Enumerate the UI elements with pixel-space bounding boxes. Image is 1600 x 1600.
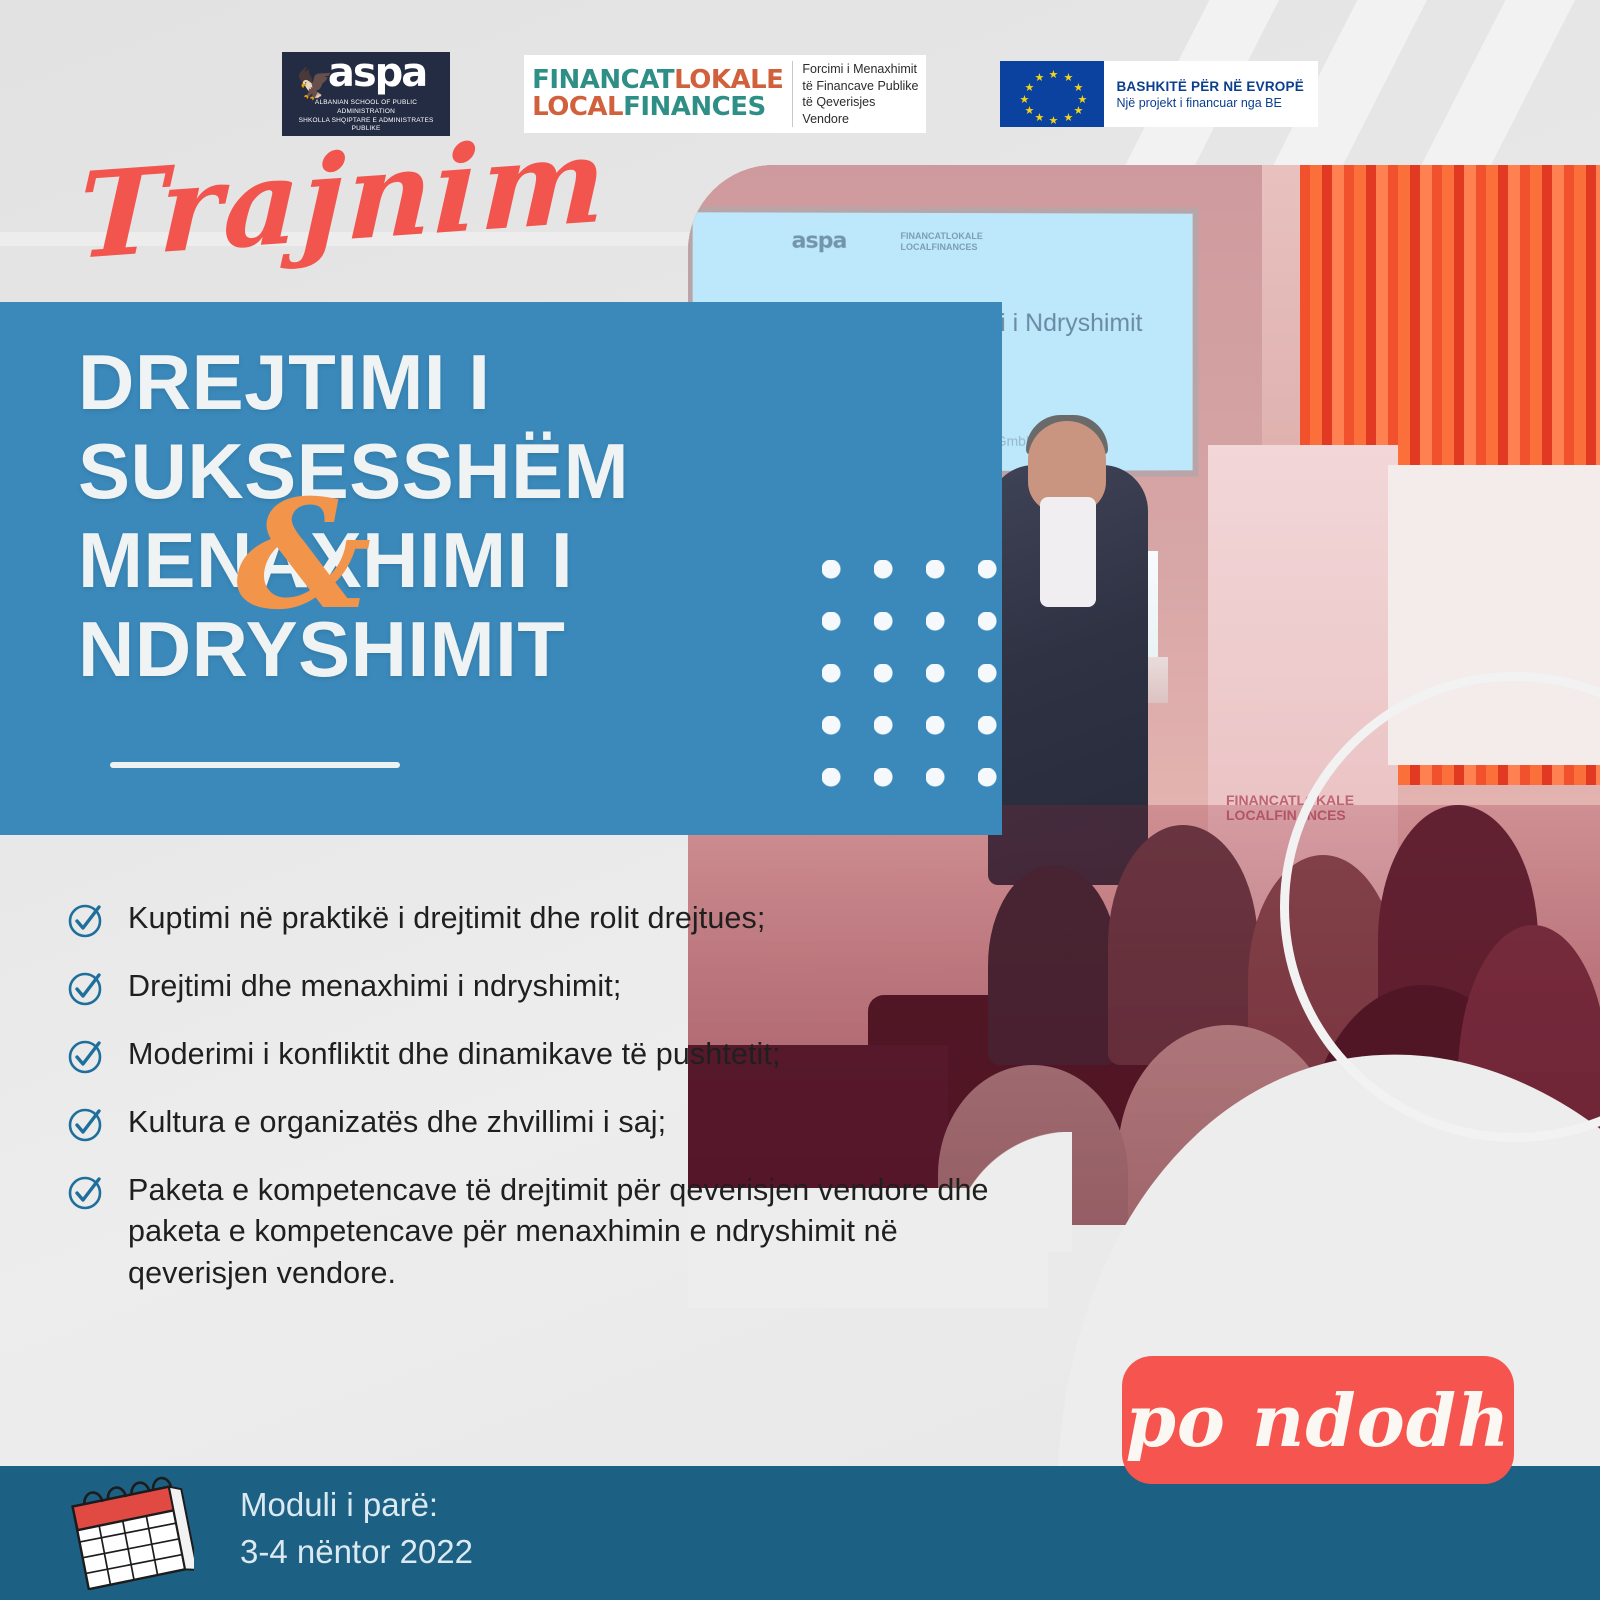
title-line-4: NDRYSHIMIT (78, 605, 1002, 694)
title-line-2: SUKSESSHËM (78, 427, 1002, 516)
fl-logo-finances: FINANCES (623, 92, 766, 122)
poster-canvas: 🦅 aspa ALBANIAN SCHOOL OF PUBLIC ADMINIS… (0, 0, 1600, 1600)
topics-list: Kuptimi në praktikë i drejtimit dhe roli… (66, 898, 1026, 1320)
title-block: DREJTIMI I SUKSESSHËM MENAXHIMI I NDRYSH… (0, 302, 1002, 835)
fl-logo-lokale: LOKALE (674, 65, 783, 95)
list-item: Kuptimi në praktikë i drejtimit dhe roli… (66, 898, 1026, 940)
title-line-1: DREJTIMI I (78, 338, 1002, 427)
check-circle-icon (66, 1036, 106, 1076)
status-badge[interactable]: po ndodh (1122, 1356, 1514, 1484)
check-circle-icon (66, 900, 106, 940)
list-item: Drejtimi dhe menaxhimi i ndryshimit; (66, 966, 1026, 1008)
list-item-label: Drejtimi dhe menaxhimi i ndryshimit; (128, 966, 621, 1007)
check-circle-icon (66, 1172, 106, 1212)
module-label: Moduli i parë: (240, 1482, 473, 1529)
list-item-label: Kuptimi në praktikë i drejtimit dhe roli… (128, 898, 765, 939)
list-item-label: Paketa e kompetencave të drejtimit për q… (128, 1170, 998, 1294)
fl-tagline-line-4: Vendore (802, 111, 918, 128)
slide-fl-line2: LOCALFINANCES (901, 241, 983, 252)
fl-logo-tagline: Forcimi i Menaxhimit të Financave Publik… (792, 61, 918, 127)
flipchart-board (1388, 465, 1600, 765)
list-item: Moderimi i konfliktit dhe dinamikave të … (66, 1034, 1026, 1076)
eu-logo-title: BASHKITË PËR NË EVROPË (1116, 79, 1303, 94)
fl-logo-financat: FINANCAT (532, 65, 674, 95)
list-item-label: Moderimi i konfliktit dhe dinamikave të … (128, 1034, 781, 1075)
eu-logo: ★ ★ ★ ★ ★ ★ ★ ★ ★ ★ ★ ★ BASHKITË PËR NË … (1000, 61, 1317, 127)
page-title: DREJTIMI I SUKSESSHËM MENAXHIMI I NDRYSH… (78, 338, 1002, 694)
list-item: Kultura e organizatës dhe zhvillimi i sa… (66, 1102, 1026, 1144)
title-line-3: MENAXHIMI I (78, 516, 1002, 605)
list-item: Paketa e kompetencave të drejtimit për q… (66, 1170, 1026, 1294)
eu-flag-icon: ★ ★ ★ ★ ★ ★ ★ ★ ★ ★ ★ ★ (1000, 61, 1104, 127)
header-logo-row: 🦅 aspa ALBANIAN SCHOOL OF PUBLIC ADMINIS… (0, 44, 1600, 144)
check-circle-icon (66, 968, 106, 1008)
list-item-label: Kultura e organizatës dhe zhvillimi i sa… (128, 1102, 666, 1143)
fl-tagline-line-2: të Financave Publike (802, 78, 918, 95)
slide-fl-logo: FINANCATLOKALE LOCALFINANCES (901, 231, 983, 253)
module-date: 3-4 nëntor 2022 (240, 1529, 473, 1576)
status-badge-label: po ndodh (1126, 1378, 1511, 1463)
ampersand-accent: & (236, 480, 371, 630)
title-underline-rule (110, 762, 400, 768)
aspa-logo-word: aspa (328, 50, 426, 96)
check-circle-icon (66, 1104, 106, 1144)
slide-aspa-logo: aspa (792, 229, 847, 254)
calendar-icon (62, 1472, 194, 1590)
footer-date-block: Moduli i parë: 3-4 nëntor 2022 (240, 1482, 473, 1576)
eu-logo-subtitle: Një projekt i financuar nga BE (1116, 96, 1303, 110)
albanian-eagle-icon: 🦅 (296, 70, 333, 100)
slide-fl-line1: FINANCATLOKALE (901, 231, 983, 242)
aspa-logo-subtitle-en: ALBANIAN SCHOOL OF PUBLIC ADMINISTRATION (282, 99, 450, 117)
fl-tagline-line-3: të Qeverisjes (802, 94, 918, 111)
fl-tagline-line-1: Forcimi i Menaxhimit (802, 61, 918, 78)
